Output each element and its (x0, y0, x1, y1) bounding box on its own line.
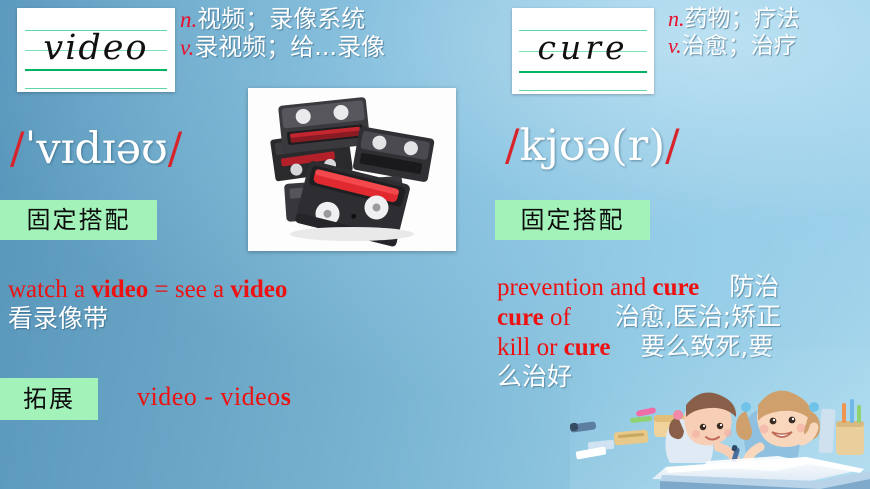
handwriting-card-video: video (17, 8, 175, 92)
slash-open: / (505, 121, 520, 171)
slash-open: / (10, 124, 25, 174)
collocation-row: prevention and cure防治 (497, 272, 870, 302)
handwriting-card-cure: cure (512, 8, 654, 94)
definitions-video: n.视频；录像系统 v.录视频；给...录像 (180, 6, 385, 62)
definitions-cure: n.药物；疗法 v.治愈；治疗 (668, 6, 800, 60)
slash-close: / (168, 124, 183, 174)
phrase-text: watch a (8, 276, 91, 303)
handwritten-word-video: video (17, 31, 175, 66)
collocation-row: cure of治愈,医治;矫正 (497, 302, 870, 332)
phonetic-cure: /kjʊə(r)/ (505, 125, 680, 168)
ruled-line (25, 88, 167, 89)
ruled-line (519, 90, 647, 91)
collocation-row: kill or cure要么致死,要 (497, 332, 870, 362)
phrase-text: prevention and (497, 274, 653, 301)
definition-line: n.药物；疗法 (668, 6, 800, 33)
collocation-row: watch a video = see a video (8, 275, 287, 304)
phonetic-symbols: ˈvɪdɪəʊ (25, 124, 168, 174)
translation-text: 么治好 (497, 362, 572, 391)
definition-line: v.录视频；给...录像 (180, 34, 385, 62)
part-of-speech-verb: v. (668, 33, 682, 58)
image-video-cassettes (248, 88, 456, 251)
keyword-cure: cure (564, 334, 611, 361)
phrase-equals: = see a (148, 276, 230, 303)
definition-text: 治愈；治疗 (682, 33, 797, 59)
definition-text: 视频；录像系统 (197, 5, 365, 33)
keyword-cure: cure (653, 274, 700, 301)
collocation-translation: 看录像带 (8, 304, 287, 334)
translation-text: 看录像带 (8, 304, 108, 333)
part-of-speech-verb: v. (180, 35, 194, 60)
label-collocation-right: 固定搭配 (495, 200, 650, 240)
slide-canvas: video n.视频；录像系统 v.录视频；给...录像 /ˈvɪdɪəʊ/ 固… (0, 0, 870, 489)
definition-text: 药物；疗法 (685, 6, 800, 32)
keyword-video: video (230, 276, 287, 303)
phrase-text: kill or (497, 334, 564, 361)
label-collocation-left: 固定搭配 (0, 200, 157, 240)
phonetic-symbols: kjʊə(r) (520, 121, 666, 171)
part-of-speech-noun: n. (180, 7, 197, 32)
translation-text: 防治 (729, 272, 779, 301)
slash-close: / (665, 121, 680, 171)
label-extend: 拓展 (0, 378, 98, 420)
keyword-video: video (91, 276, 148, 303)
collocations-cure: prevention and cure防治 cure of治愈,医治;矫正 ki… (497, 272, 870, 392)
handwritten-word-cure: cure (512, 31, 654, 64)
part-of-speech-noun: n. (668, 6, 685, 31)
collocations-video: watch a video = see a video 看录像带 (8, 275, 287, 334)
ruled-line-baseline (519, 71, 647, 73)
phrase-text: of (544, 304, 571, 331)
definition-line: v.治愈；治疗 (668, 33, 800, 60)
extend-base: video - video (137, 382, 281, 411)
keyword-cure: cure (497, 304, 544, 331)
definition-line: n.视频；录像系统 (180, 6, 385, 34)
phonetic-video: /ˈvɪdɪəʊ/ (10, 128, 182, 171)
extend-word-forms: video - videos (137, 382, 291, 412)
translation-text: 治愈,医治;矫正 (615, 302, 781, 331)
ruled-line-baseline (25, 69, 167, 71)
collocation-translation: 么治好 (497, 362, 870, 392)
extend-plural-suffix: s (281, 382, 292, 411)
translation-text: 要么致死,要 (640, 332, 773, 361)
definition-text: 录视频；给...录像 (194, 33, 385, 61)
